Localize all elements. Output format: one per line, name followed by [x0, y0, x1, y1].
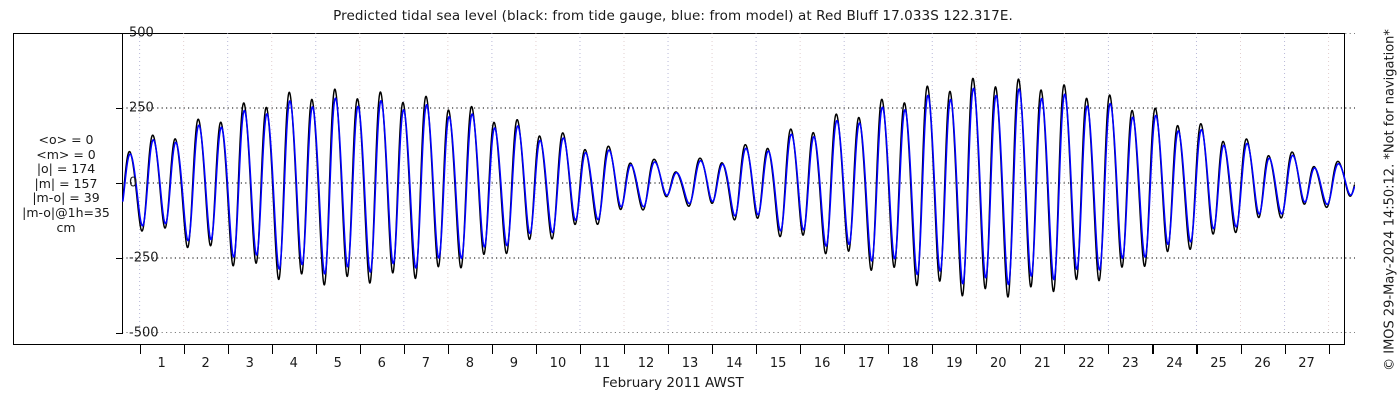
x-axis-tick-mark — [492, 345, 493, 354]
y-axis-tick-mark — [116, 108, 123, 109]
x-axis-tick-mark — [800, 345, 801, 354]
x-axis-tick-mark — [932, 345, 933, 354]
copyright-text: © IMOS 29-May-2024 14:50:12. *Not for na… — [1383, 29, 1398, 371]
x-axis-tick-label: 6 — [378, 356, 386, 371]
x-axis-tick-mark — [184, 345, 185, 354]
x-axis-tick-mark — [1152, 345, 1153, 354]
x-axis-tick-label: 21 — [1034, 356, 1051, 371]
y-axis-tick-label: 0 — [129, 176, 137, 191]
x-axis-tick-mark — [360, 345, 361, 354]
x-axis-tick-label: 17 — [858, 356, 875, 371]
stat-mean-observed: <o> = 0 — [14, 133, 118, 148]
x-axis-tick-mark — [1285, 345, 1286, 354]
x-axis-tick-label: 7 — [422, 356, 430, 371]
stat-abs-model: |m| = 157 — [14, 177, 118, 192]
stat-units: cm — [14, 221, 118, 236]
x-axis-tick-label: 9 — [510, 356, 518, 371]
x-axis-tick-mark — [1329, 345, 1330, 354]
y-axis-tick-mark — [116, 333, 123, 334]
y-axis-tick-label: 500 — [129, 26, 154, 41]
x-axis-tick-label: 24 — [1166, 356, 1183, 371]
x-axis-tick-mark — [404, 345, 405, 354]
x-axis-tick-mark — [624, 345, 625, 354]
x-axis-tick-label: 16 — [814, 356, 831, 371]
x-axis-tick-mark — [712, 345, 713, 354]
series-line-model — [123, 88, 1355, 284]
x-axis-tick-label: 1 — [157, 356, 165, 371]
x-axis-tick-label: 10 — [550, 356, 567, 371]
y-axis-tick-label: -250 — [129, 251, 159, 266]
x-axis-tick-label: 5 — [334, 356, 342, 371]
copyright-notice: © IMOS 29-May-2024 14:50:12. *Not for na… — [1379, 0, 1400, 400]
stat-mean-model: <m> = 0 — [14, 148, 118, 163]
y-axis-tick-mark — [116, 258, 123, 259]
x-axis-tick-mark — [1196, 345, 1197, 354]
x-axis-tick-mark — [272, 345, 273, 354]
x-axis-tick-mark — [1241, 345, 1242, 354]
x-axis-title: February 2011 AWST — [0, 375, 1346, 391]
x-axis-tick-mark — [140, 345, 141, 354]
x-axis-tick-label: 25 — [1210, 356, 1227, 371]
stat-abs-diff-1h: |m-o|@1h=35 — [14, 206, 118, 221]
x-axis-tick-mark — [580, 345, 581, 354]
x-axis-tick-mark — [228, 345, 229, 354]
x-axis-tick-label: 2 — [202, 356, 210, 371]
x-axis-tick-label: 18 — [902, 356, 919, 371]
x-axis-tick-mark — [976, 345, 977, 354]
x-axis-tick-label: 27 — [1298, 356, 1315, 371]
x-axis-tick-mark — [844, 345, 845, 354]
x-axis-tick-label: 20 — [990, 356, 1007, 371]
x-axis-tick-label: 14 — [726, 356, 743, 371]
y-axis-tick-mark — [116, 183, 123, 184]
tidal-chart-plot — [122, 33, 1355, 333]
stat-abs-diff: |m-o| = 39 — [14, 191, 118, 206]
x-axis-tick-label: 11 — [594, 356, 611, 371]
x-axis-tick-mark — [668, 345, 669, 354]
x-axis-tick-label: 19 — [946, 356, 963, 371]
x-axis-tick-mark — [448, 345, 449, 354]
y-axis-tick-label: -500 — [129, 326, 159, 341]
statistics-block: <o> = 0 <m> = 0 |o| = 174 |m| = 157 |m-o… — [14, 133, 118, 235]
x-axis-tick-mark — [316, 345, 317, 354]
x-axis-tick-label: 23 — [1122, 356, 1139, 371]
y-axis-tick-mark — [116, 33, 123, 34]
x-axis-tick-mark — [536, 345, 537, 354]
x-axis-tick-label: 4 — [290, 356, 298, 371]
x-axis-tick-label: 3 — [246, 356, 254, 371]
x-axis-tick-label: 26 — [1254, 356, 1271, 371]
x-axis-tick-label: 12 — [638, 356, 655, 371]
x-axis-tick-mark — [1064, 345, 1065, 354]
y-axis-tick-label: 250 — [129, 101, 154, 116]
page-title: Predicted tidal sea level (black: from t… — [0, 8, 1346, 24]
x-axis-tick-mark — [888, 345, 889, 354]
x-axis-tick-label: 13 — [682, 356, 699, 371]
x-axis-tick-label: 22 — [1078, 356, 1095, 371]
x-axis-tick-label: 8 — [466, 356, 474, 371]
stat-abs-observed: |o| = 174 — [14, 162, 118, 177]
x-axis-tick-mark — [1020, 345, 1021, 354]
x-axis-tick-mark — [1108, 345, 1109, 354]
chart-svg — [122, 33, 1355, 333]
x-axis-tick-label: 15 — [770, 356, 787, 371]
x-axis-tick-mark — [756, 345, 757, 354]
